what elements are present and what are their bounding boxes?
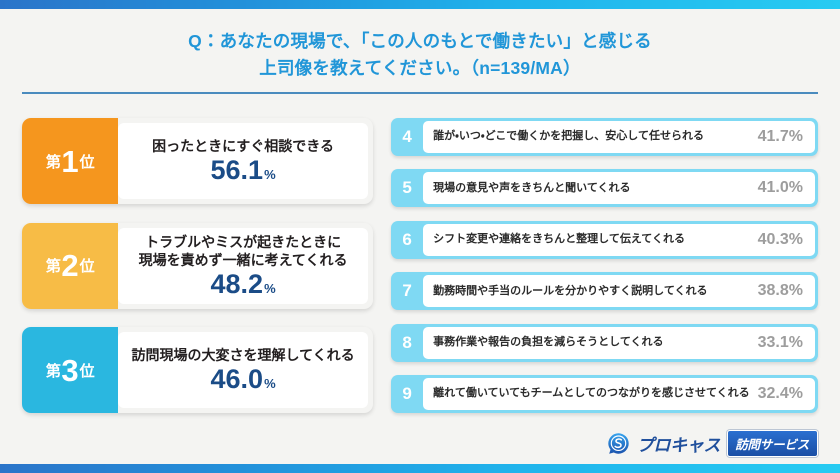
list-item: 7 勤務時間や手当のルールを分かりやすく説明してくれる 38.8% [391,272,818,310]
row-label: 現場の意見や声をきちんと聞いてくれる [433,182,630,195]
row-body: 勤務時間や手当のルールを分かりやすく説明してくれる 38.8% [423,275,815,307]
rank-percent-sign-2: % [264,282,276,296]
rank-value-1: 56.1 % [211,156,276,184]
rank-body-3: 訪問現場の大変さを理解してくれる 46.0 % [118,332,368,408]
row-value: 41.7% [758,128,803,146]
row-rank-badge: 9 [391,375,423,413]
title-divider [22,92,818,94]
brand-logo: プロキャス 訪問サービス [607,430,818,457]
rank-label-2-line-2: 現場を責めず一緒に考えてくれる [139,251,348,269]
brand-name: プロキャス [637,431,721,456]
row-rank-badge: 8 [391,324,423,362]
row-body: 誰が・いつ・どこで働くかを把握し、安心して任せられる 41.7% [423,121,815,153]
rank-number: 1 [61,146,78,177]
row-rank-badge: 6 [391,221,423,259]
rank-suffix: 位 [80,360,95,381]
row-value: 40.3% [758,231,803,249]
row-label: 事務作業や報告の負担を減らそうとしてくれる [433,336,663,349]
rank-body-2: トラブルやミスが起きたときに 現場を責めず一緒に考えてくれる 48.2 % [118,228,368,304]
row-label: シフト変更や連絡をきちんと整理して伝えてくれる [433,233,685,246]
rank-badge-2: 第 2 位 [22,223,118,309]
rank-badge-1: 第 1 位 [22,118,118,204]
row-body: 事務作業や報告の負担を減らそうとしてくれる 33.1% [423,327,815,359]
row-value: 41.0% [758,179,803,197]
procas-speech-bubble-s-icon [607,432,630,455]
rank-label-1: 困ったときにすぐ相談できる [152,137,334,155]
rank-number: 2 [61,250,78,281]
bottom-gradient-bar [0,464,840,473]
rank-badge-3: 第 3 位 [22,327,118,413]
rank-value-2: 48.2 % [211,270,276,298]
rank-card-2: 第 2 位 トラブルやミスが起きたときに 現場を責めず一緒に考えてくれる 48.… [22,223,373,309]
rank-suffix: 位 [80,151,95,172]
list-item: 9 離れて働いていてもチームとしてのつながりを感じさせてくれる 32.4% [391,375,818,413]
rank-prefix: 第 [46,360,61,381]
row-label: 勤務時間や手当のルールを分かりやすく説明してくれる [433,285,707,298]
row-value: 32.4% [758,385,803,403]
rank-card-1: 第 1 位 困ったときにすぐ相談できる 56.1 % [22,118,373,204]
rank-value-number-3: 46.0 [211,365,264,393]
service-badge: 訪問サービス [727,430,818,457]
list-item: 8 事務作業や報告の負担を減らそうとしてくれる 33.1% [391,324,818,362]
row-label: 離れて働いていてもチームとしてのつながりを感じさせてくれる [433,387,749,400]
rank-percent-sign-1: % [264,168,276,182]
rank-card-3: 第 3 位 訪問現場の大変さを理解してくれる 46.0 % [22,327,373,413]
row-rank-badge: 5 [391,169,423,207]
rank-value-3: 46.0 % [211,365,276,393]
row-rank-badge: 7 [391,272,423,310]
row-value: 33.1% [758,334,803,352]
rank-suffix: 位 [80,255,95,276]
row-label: 誰が・いつ・どこで働くかを把握し、安心して任せられる [433,130,704,143]
list-item: 4 誰が・いつ・どこで働くかを把握し、安心して任せられる 41.7% [391,118,818,156]
rank-percent-sign-3: % [264,377,276,391]
rank-label-2-line-1: トラブルやミスが起きたときに [145,233,341,251]
rank-prefix: 第 [46,151,61,172]
row-rank-badge: 4 [391,118,423,156]
row-value: 38.8% [758,282,803,300]
rank-label-3: 訪問現場の大変さを理解してくれる [131,346,354,364]
list-item: 5 現場の意見や声をきちんと聞いてくれる 41.0% [391,169,818,207]
infographic-slide: Q：あなたの現場で、「この人のもとで働きたい」と感じる 上司像を教えてください。… [0,0,840,473]
rank-value-number-2: 48.2 [211,270,264,298]
top-gradient-bar [0,0,840,9]
top-three-column: 第 1 位 困ったときにすぐ相談できる 56.1 % 第 2 位 [22,118,373,413]
rank-value-number-1: 56.1 [211,156,264,184]
rank-prefix: 第 [46,255,61,276]
ranks-four-to-nine-column: 4 誰が・いつ・どこで働くかを把握し、安心して任せられる 41.7% 5 現場の… [391,118,818,413]
results-columns: 第 1 位 困ったときにすぐ相談できる 56.1 % 第 2 位 [0,118,840,413]
row-body: 現場の意見や声をきちんと聞いてくれる 41.0% [423,172,815,204]
rank-body-1: 困ったときにすぐ相談できる 56.1 % [118,123,368,199]
rank-number: 3 [61,355,78,386]
page-title-line-1: Q：あなたの現場で、「この人のもとで働きたい」と感じる [0,28,840,55]
row-body: 離れて働いていてもチームとしてのつながりを感じさせてくれる 32.4% [423,378,815,410]
list-item: 6 シフト変更や連絡をきちんと整理して伝えてくれる 40.3% [391,221,818,259]
page-title: Q：あなたの現場で、「この人のもとで働きたい」と感じる 上司像を教えてください。… [0,28,840,82]
page-title-line-2: 上司像を教えてください。（n=139/MA） [0,55,840,82]
row-body: シフト変更や連絡をきちんと整理して伝えてくれる 40.3% [423,224,815,256]
